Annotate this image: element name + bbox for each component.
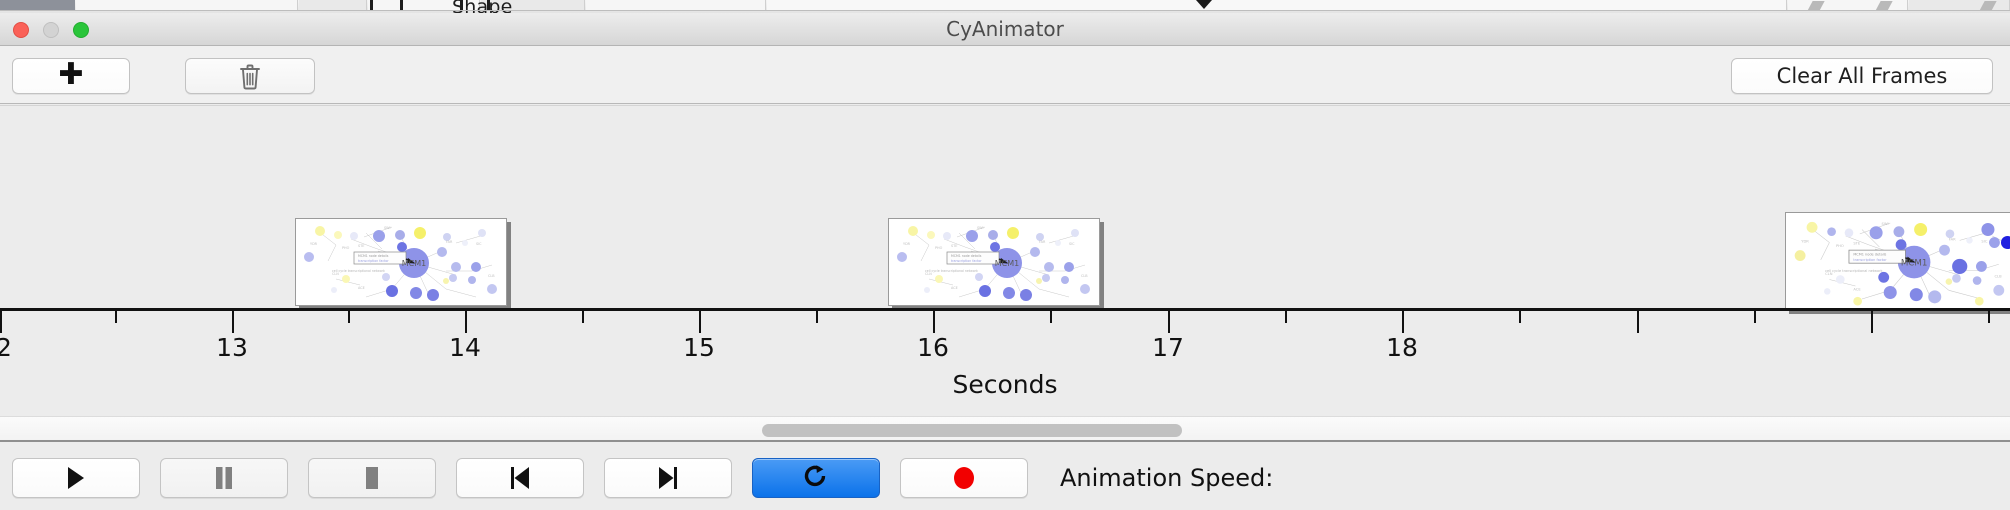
loop-button[interactable] — [752, 458, 880, 498]
ruler-tick-minor — [1754, 311, 1756, 323]
pause-icon — [214, 466, 234, 490]
timeline-frame-thumbnail[interactable]: YDRPHO STESWI CLNACE FARSIC CLB MCM1 nod… — [295, 218, 507, 306]
timeline-ruler[interactable]: 2 13 14 15 16 17 18 Seconds — [0, 308, 2010, 416]
svg-text:SIC: SIC — [476, 242, 482, 246]
play-button[interactable] — [12, 458, 140, 498]
ruler-tick-major — [1871, 311, 1873, 333]
skip-back-icon — [509, 466, 531, 490]
svg-text:cell cycle transcriptional net: cell cycle transcriptional network — [925, 269, 978, 273]
svg-text:STE: STE — [951, 244, 957, 248]
svg-text:STE: STE — [358, 244, 364, 248]
svg-text:MCM1 node details: MCM1 node details — [1853, 253, 1886, 257]
ruler-label: 14 — [449, 333, 481, 362]
frame-toolbar: ✚ Clear All Frames — [0, 46, 2010, 104]
ruler-label: 2 — [0, 333, 12, 362]
skip-forward-button[interactable] — [604, 458, 732, 498]
record-icon — [951, 465, 977, 491]
delete-frame-button[interactable] — [185, 58, 315, 94]
cyanimator-window: Shape CyAnimator ✚ Clear All Frames — [0, 0, 2010, 510]
ruler-tick-minor — [1050, 311, 1052, 323]
svg-text:PHO: PHO — [1836, 244, 1844, 248]
ruler-tick-major — [933, 311, 935, 333]
svg-text:YDR: YDR — [903, 242, 911, 246]
svg-text:SIC: SIC — [1981, 240, 1987, 244]
ruler-tick-minor — [1988, 311, 1990, 323]
animation-speed-label: Animation Speed: — [1060, 458, 1273, 498]
ruler-label: 18 — [1386, 333, 1418, 362]
scrollbar-thumb[interactable] — [762, 424, 1182, 437]
timeline-horizontal-scrollbar[interactable] — [0, 416, 2010, 442]
svg-text:FAR: FAR — [446, 240, 453, 244]
svg-text:CLB: CLB — [1994, 274, 2002, 278]
svg-text:YDR: YDR — [1801, 240, 1809, 244]
ruler-label: 15 — [683, 333, 715, 362]
ruler-tick-major — [699, 311, 701, 333]
ruler-axis-label: Seconds — [0, 370, 2010, 399]
record-button[interactable] — [900, 458, 1028, 498]
ruler-tick-minor — [816, 311, 818, 323]
svg-text:transcription factor: transcription factor — [358, 259, 389, 263]
ruler-label: 17 — [1152, 333, 1184, 362]
ruler-tick-minor — [582, 311, 584, 323]
ruler-label: 16 — [917, 333, 949, 362]
ruler-tick-major — [0, 311, 2, 333]
ruler-tick-major — [232, 311, 234, 333]
add-frame-button[interactable]: ✚ — [12, 58, 130, 94]
svg-text:SWI: SWI — [384, 226, 391, 230]
clear-all-frames-label: Clear All Frames — [1777, 64, 1948, 88]
svg-text:STE: STE — [1853, 242, 1861, 246]
frame-caption: MCM1 — [995, 259, 1019, 268]
svg-text:MCM1 node details: MCM1 node details — [358, 254, 389, 258]
ruler-baseline — [0, 308, 2010, 311]
stop-icon — [362, 466, 382, 490]
timeline-panel[interactable]: YDRPHO STESWI CLNACE FARSIC CLB MCM1 nod… — [0, 105, 2010, 416]
frame-caption: MCM1 — [1901, 258, 1928, 268]
skip-back-button[interactable] — [456, 458, 584, 498]
svg-text:CLB: CLB — [1081, 274, 1088, 278]
background-divider — [0, 10, 2010, 11]
title-bar: CyAnimator — [0, 13, 2010, 46]
ruler-tick-major — [1637, 311, 1639, 333]
svg-text:transcription factor: transcription factor — [951, 259, 982, 263]
stop-button[interactable] — [308, 458, 436, 498]
svg-text:ACE: ACE — [358, 286, 365, 290]
clear-all-frames-button[interactable]: Clear All Frames — [1731, 58, 1993, 94]
ruler-tick-major — [465, 311, 467, 333]
ruler-label: 13 — [216, 333, 248, 362]
svg-text:FAR: FAR — [1039, 240, 1046, 244]
skip-forward-icon — [657, 466, 679, 490]
svg-text:transcription factor: transcription factor — [1853, 258, 1887, 262]
background-shape-label: Shape — [452, 0, 513, 14]
svg-text:SWI: SWI — [977, 226, 984, 230]
timeline-top-divider — [0, 105, 2010, 106]
playback-control-bar: Animation Speed: — [0, 444, 2010, 510]
svg-text:YDR: YDR — [310, 242, 318, 246]
ruler-tick-minor — [115, 311, 117, 323]
background-arrow-icon — [1196, 0, 1212, 9]
svg-text:MCM1 node details: MCM1 node details — [951, 254, 982, 258]
ruler-tick-minor — [348, 311, 350, 323]
svg-text:SIC: SIC — [1069, 242, 1075, 246]
svg-text:cell cycle transcriptional net: cell cycle transcriptional network — [1825, 269, 1882, 273]
timeline-frame-thumbnail[interactable]: YDRPHO STESWI CLNACE FARSIC CLB MCM1 nod… — [1785, 212, 2010, 310]
pause-button[interactable] — [160, 458, 288, 498]
svg-text:ACE: ACE — [951, 286, 958, 290]
timeline-frame-thumbnail[interactable]: YDRPHO STESWI CLNACE FARSIC CLB MCM1 nod… — [888, 218, 1100, 306]
svg-text:SWI: SWI — [1882, 222, 1889, 226]
background-window-strip: Shape — [0, 0, 2010, 14]
play-icon — [66, 466, 86, 490]
frame-caption: MCM1 — [402, 259, 426, 268]
svg-text:cell cycle transcriptional net: cell cycle transcriptional network — [332, 269, 385, 273]
ruler-tick-major — [1402, 311, 1404, 333]
ruler-tick-major — [1168, 311, 1170, 333]
ruler-tick-minor — [1285, 311, 1287, 323]
plus-icon: ✚ — [58, 60, 83, 90]
window-title: CyAnimator — [0, 13, 2010, 46]
loop-icon — [803, 464, 829, 492]
svg-text:PHO: PHO — [935, 246, 943, 250]
svg-text:FAR: FAR — [1949, 237, 1956, 241]
svg-text:CLB: CLB — [488, 274, 495, 278]
svg-text:ACE: ACE — [1853, 287, 1861, 291]
ruler-tick-minor — [1519, 311, 1521, 323]
svg-text:PHO: PHO — [342, 246, 350, 250]
trash-icon — [238, 63, 262, 90]
